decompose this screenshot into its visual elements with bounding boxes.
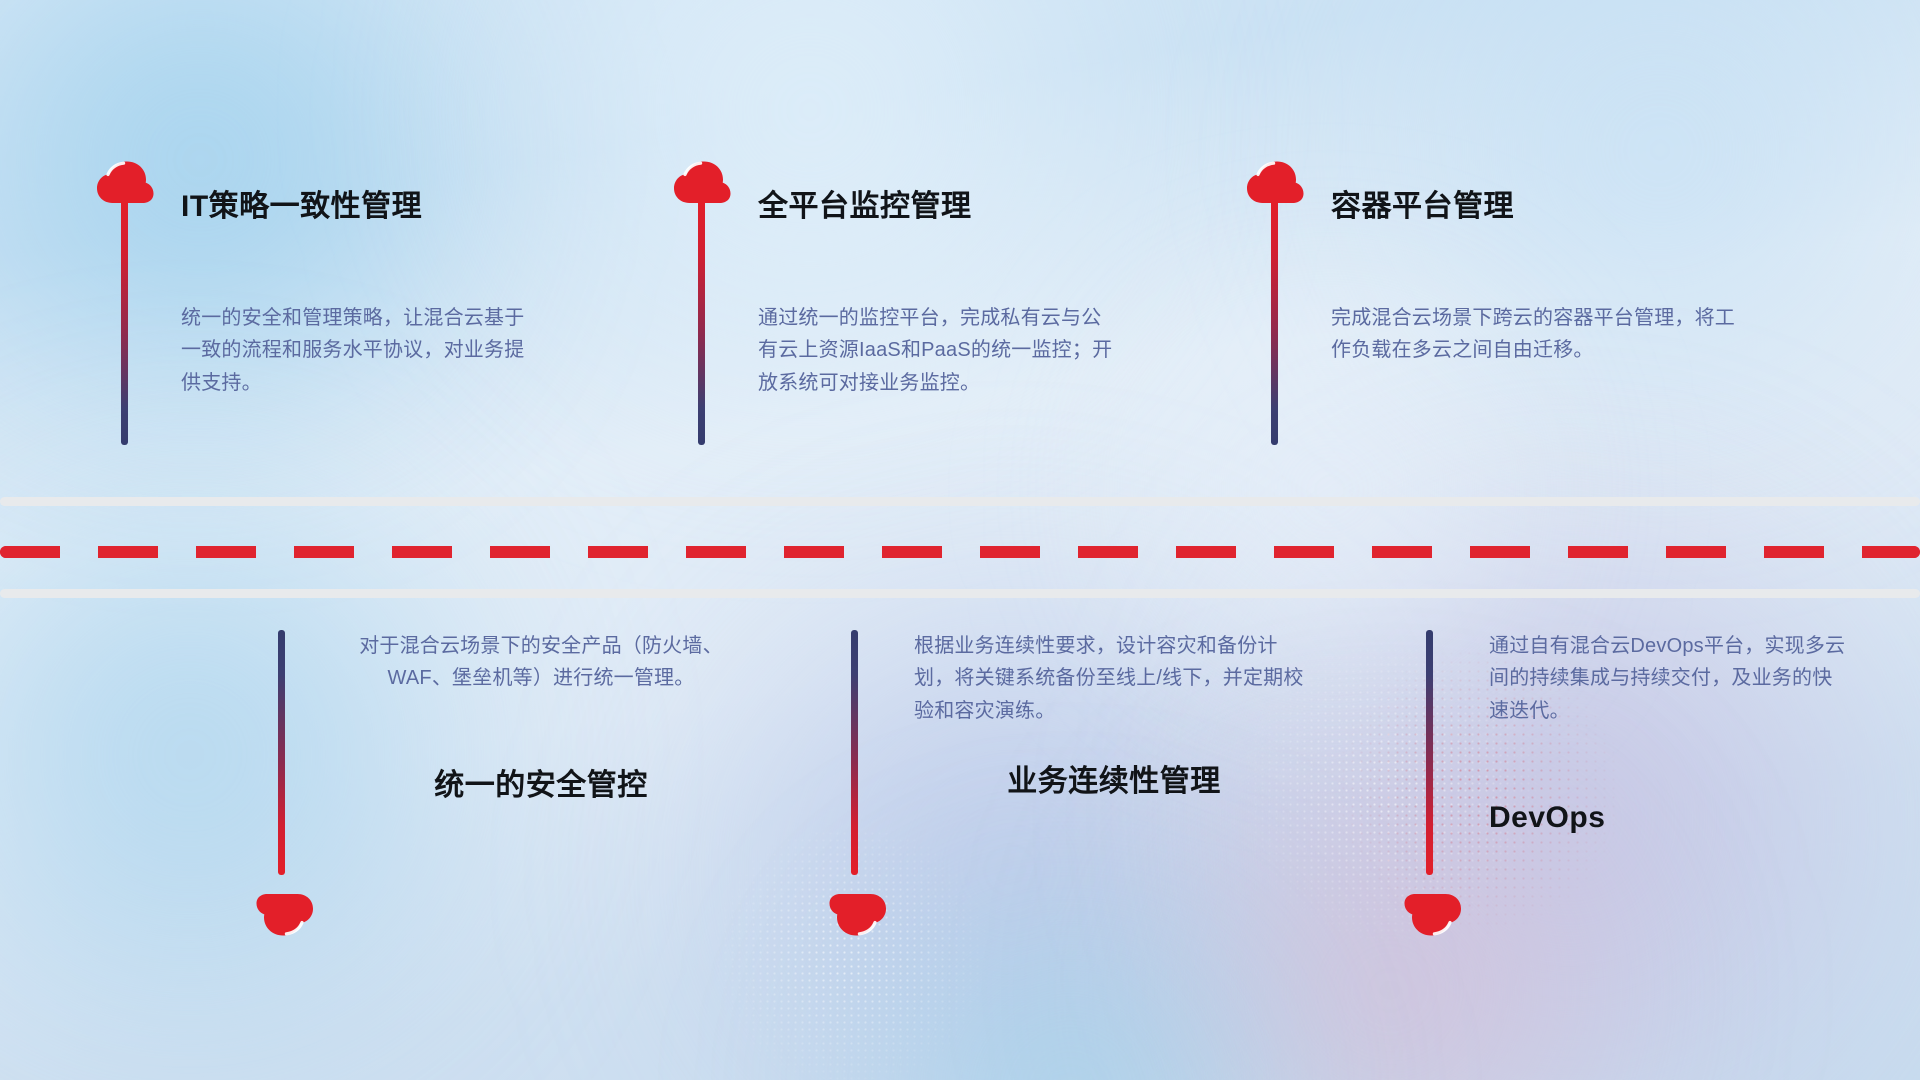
- feature-column-top-1: IT策略一致性管理 统一的安全和管理策略，让混合云基于一致的流程和服务水平协议，…: [95, 160, 541, 445]
- connector-line: [121, 200, 128, 445]
- feature-title: 容器平台管理: [1331, 192, 1741, 222]
- feature-description: 统一的安全和管理策略，让混合云基于一致的流程和服务水平协议，对业务提供支持。: [181, 302, 541, 399]
- road-dashed-center-line: [0, 546, 1920, 558]
- connector-line: [1271, 200, 1278, 445]
- feature-column-top-2: 全平台监控管理 通过统一的监控平台，完成私有云与公有云上资源IaaS和PaaS的…: [672, 160, 1120, 445]
- column-header: 容器平台管理 完成混合云场景下跨云的容器平台管理，将工作负载在多云之间自由迁移。: [1245, 160, 1741, 445]
- feature-title: 全平台监控管理: [758, 192, 1120, 222]
- connector-line: [278, 630, 285, 875]
- feature-column-top-3: 容器平台管理 完成混合云场景下跨云的容器平台管理，将工作负载在多云之间自由迁移。: [1245, 160, 1741, 445]
- feature-description: 根据业务连续性要求，设计容灾和备份计划，将关键系统备份至线上/线下，并定期校验和…: [914, 630, 1314, 727]
- cloud-icon: [672, 160, 732, 204]
- road-line-top: [0, 497, 1920, 506]
- feature-column-bottom-3: 通过自有混合云DevOps平台，实现多云间的持续集成与持续交付，及业务的快速迭代…: [1400, 630, 1849, 937]
- cloud-icon: [1403, 893, 1463, 937]
- feature-title: IT策略一致性管理: [181, 192, 541, 222]
- feature-title: 统一的安全管控: [341, 771, 741, 801]
- feature-column-bottom-2: 根据业务连续性要求，设计容灾和备份计划，将关键系统备份至线上/线下，并定期校验和…: [825, 630, 1314, 937]
- cloud-icon: [1245, 160, 1305, 204]
- column-header: IT策略一致性管理 统一的安全和管理策略，让混合云基于一致的流程和服务水平协议，…: [95, 160, 541, 445]
- feature-description: 完成混合云场景下跨云的容器平台管理，将工作负载在多云之间自由迁移。: [1331, 302, 1741, 367]
- feature-description: 通过统一的监控平台，完成私有云与公有云上资源IaaS和PaaS的统一监控；开放系…: [758, 302, 1120, 399]
- column-header: 全平台监控管理 通过统一的监控平台，完成私有云与公有云上资源IaaS和PaaS的…: [672, 160, 1120, 445]
- feature-title: DevOps: [1489, 803, 1849, 833]
- feature-title: 业务连续性管理: [914, 767, 1314, 797]
- feature-description: 对于混合云场景下的安全产品（防火墙、WAF、堡垒机等）进行统一管理。: [341, 630, 741, 695]
- connector-line: [851, 630, 858, 875]
- road-line-bottom: [0, 589, 1920, 598]
- feature-description: 通过自有混合云DevOps平台，实现多云间的持续集成与持续交付，及业务的快速迭代…: [1489, 630, 1849, 727]
- connector-line: [1426, 630, 1433, 875]
- cloud-icon: [255, 893, 315, 937]
- infographic-canvas: IT策略一致性管理 统一的安全和管理策略，让混合云基于一致的流程和服务水平协议，…: [0, 0, 1920, 1080]
- cloud-icon: [828, 893, 888, 937]
- connector-line: [698, 200, 705, 445]
- cloud-icon: [95, 160, 155, 204]
- feature-column-bottom-1: 对于混合云场景下的安全产品（防火墙、WAF、堡垒机等）进行统一管理。 统一的安全…: [252, 630, 741, 937]
